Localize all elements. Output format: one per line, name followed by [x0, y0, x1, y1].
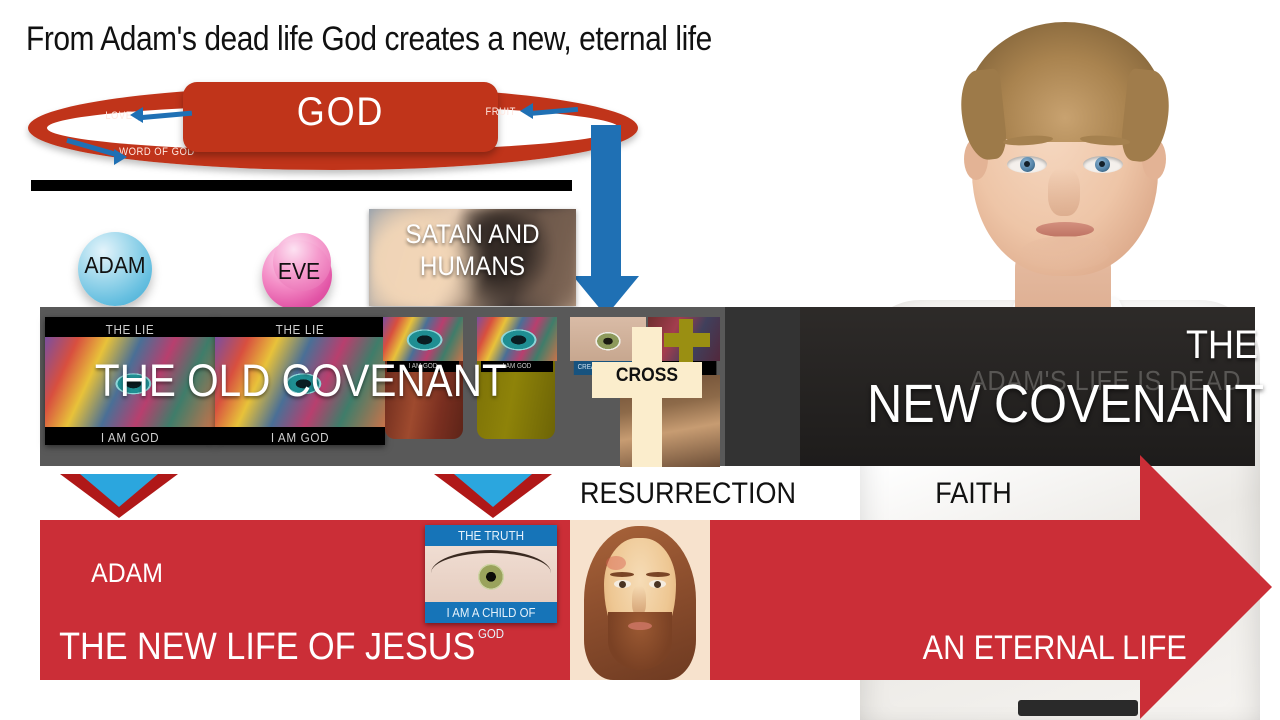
eyelash-icon — [431, 550, 551, 573]
resurrection-label: RESURRECTION — [580, 477, 796, 511]
cross-panel: CREATURE OF GOD I AM GOD CROSS — [570, 317, 720, 467]
new-covenant-heading-line1: THE — [1186, 323, 1258, 368]
jesus-eyebrow-right — [646, 572, 670, 577]
jesus-beard — [608, 612, 672, 670]
slide-canvas: From Adam's dead life God creates a new,… — [0, 0, 1280, 720]
new-life-of-jesus-label: THE NEW LIFE OF JESUS — [59, 626, 475, 669]
down-arrow-1-inner — [80, 474, 158, 507]
page-title: From Adam's dead life God creates a new,… — [26, 20, 712, 59]
truth-card-bottom-caption: I AM A CHILD OF GOD — [433, 602, 549, 623]
new-covenant-heading-line2: NEW COVENANT — [867, 373, 1264, 435]
ring-label-love: LOVE — [105, 110, 132, 122]
nose-shape — [1048, 168, 1080, 216]
pupil-right — [1099, 161, 1105, 167]
blue-down-arrow-shaft — [591, 125, 621, 280]
adam-sphere-label: ADAM — [83, 252, 147, 279]
jesus-mouth — [628, 622, 652, 630]
old-covenant-heading: THE OLD COVENANT — [95, 355, 507, 407]
jesus-pupil-right — [654, 581, 661, 588]
ring-label-fruit: FRUIT — [485, 106, 515, 118]
satan-humans-line2: HUMANS — [379, 252, 565, 280]
gold-cross-horizontal-icon — [664, 333, 710, 347]
down-arrow-2-inner — [454, 474, 532, 507]
god-box: GOD — [183, 82, 498, 152]
truth-card: THE TRUTH I AM A CHILD OF GOD — [425, 525, 557, 623]
truth-card-top-caption: THE TRUTH — [432, 525, 551, 546]
jesus-portrait — [570, 520, 710, 680]
satan-humans-line1: SATAN AND — [379, 220, 565, 248]
eternal-life-label: AN ETERNAL LIFE — [923, 629, 1187, 668]
ring-label-word-of-god: WORD OF GOD — [119, 146, 195, 158]
lie-card-2-top: THE LIE — [224, 317, 377, 337]
band-adam-label: ADAM — [91, 558, 163, 589]
god-label: GOD — [199, 90, 483, 135]
satan-and-humans-photo: SATAN AND HUMANS — [369, 209, 576, 306]
jesus-pupil-left — [619, 581, 626, 588]
god-cycle-diagram: WORD OF GOD GOD LOVE FRUIT — [28, 86, 638, 170]
lie-card-1-bottom: I AM GOD — [54, 427, 207, 445]
faith-label: FAITH — [935, 477, 1012, 511]
love-arrow-head-icon — [130, 107, 143, 123]
lie-card-1-top: THE LIE — [54, 317, 207, 337]
down-arrow-2-icon — [434, 474, 552, 518]
fruit-arrow-head-icon — [520, 103, 533, 119]
word-of-god-arrow-head-icon — [114, 149, 127, 165]
down-arrow-1-icon — [60, 474, 178, 518]
pupil-left — [1024, 161, 1030, 167]
cross-label: CROSS — [596, 365, 697, 387]
belt-shape — [1018, 700, 1138, 716]
truth-card-eye-image — [425, 546, 557, 602]
jesus-blush — [606, 556, 626, 570]
jesus-eyebrow-left — [610, 572, 634, 577]
chin-shading — [1020, 236, 1110, 270]
eve-sphere-label: EVE — [267, 258, 331, 285]
black-divider-bar — [31, 180, 572, 191]
lie-card-2-bottom: I AM GOD — [224, 427, 377, 445]
mouth-shape — [1036, 222, 1094, 237]
